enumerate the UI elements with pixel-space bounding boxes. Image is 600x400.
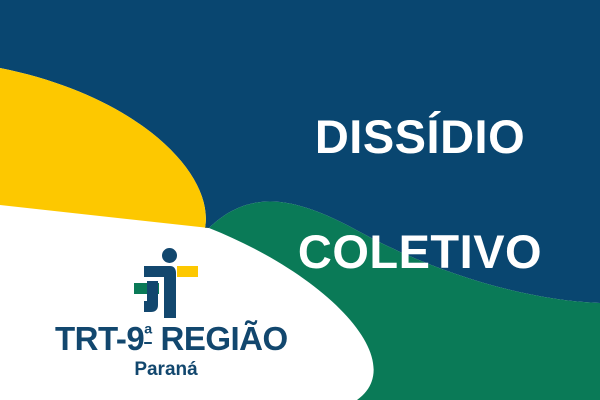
logo-wordmark: TRT-9ª REGIÃO [55, 322, 277, 357]
logo-mark-wrapper [55, 248, 277, 318]
headline: DISSÍDIO COLETIVO [255, 50, 585, 339]
headline-line-2: COLETIVO [255, 223, 585, 281]
logo-wordmark-ordinal: ª [144, 321, 152, 346]
logo-subtitle: Paraná [55, 359, 277, 381]
headline-line-1: DISSÍDIO [255, 108, 585, 166]
trt9-figure-mark-icon [134, 248, 198, 318]
banner-graphic: DISSÍDIO COLETIVO TRT-9ª REGIÃO Paraná [0, 0, 600, 400]
logo-head-circle [162, 248, 177, 263]
logo-wordmark-suffix: REGIÃO [152, 320, 288, 357]
logo-yellow-arm-bar [177, 266, 198, 277]
trt9-logo: TRT-9ª REGIÃO Paraná [55, 248, 277, 381]
logo-wordmark-prefix: TRT-9 [55, 320, 144, 357]
